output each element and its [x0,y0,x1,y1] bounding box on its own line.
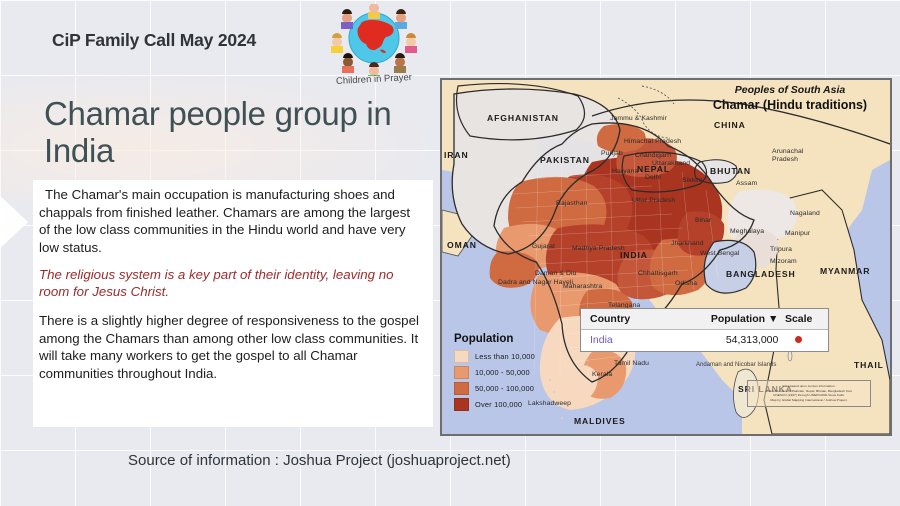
legend-label-tier-2: 10,000 - 50,000 [475,368,530,377]
legend-swatch-tier-3 [454,382,469,395]
legend-label-tier-3: 50,000 - 100,000 [475,384,534,393]
legend-swatch-tier-4 [454,398,469,411]
children-in-prayer-logo: Children in Prayer [322,4,426,96]
page-title: Chamar people group in India [44,96,434,170]
left-arrow-icon [0,192,28,252]
population-table: Country Population ▼ Scale India 54,313,… [580,308,829,352]
table-header-row: Country Population ▼ Scale [581,309,828,330]
legend-item: 10,000 - 50,000 [454,366,535,379]
logo-globe-icon [322,4,426,76]
map-attribution: Data based upon census information. Dist… [747,380,871,407]
paragraph-occupation: The Chamar's main occupation is manufact… [39,186,423,257]
cell-country-india[interactable]: India [590,334,686,346]
body-text-panel: The Chamar's main occupation is manufact… [33,180,433,427]
map-title: Peoples of South Asia Chamar (Hindu trad… [692,84,888,113]
map-title-subtitle: Peoples of South Asia [692,84,888,97]
legend-item: Over 100,000 [454,398,535,411]
legend-label-tier-1: Less than 10,000 [475,352,535,361]
paragraph-responsiveness: There is a slightly higher degree of res… [39,312,423,383]
legend-swatch-tier-1 [454,350,469,363]
slide: CiP Family Call May 2024 Children in Pra… [0,0,900,506]
column-header-population[interactable]: Population ▼ [686,313,778,325]
paragraph-highlight: The religious system is a key part of th… [39,266,423,301]
south-asia-map: Peoples of South Asia Chamar (Hindu trad… [440,78,892,436]
legend-item: Less than 10,000 [454,350,535,363]
legend-title: Population [454,333,535,345]
cell-scale [778,334,819,346]
legend-label-tier-4: Over 100,000 [475,400,522,409]
legend-swatch-tier-2 [454,366,469,379]
column-header-scale[interactable]: Scale [778,313,819,325]
attribution-line-4: Map by Global Mapping International / Jo… [750,398,868,403]
source-footer: Source of information : Joshua Project (… [128,452,511,469]
table-row: India 54,313,000 [581,330,828,351]
map-legend: Population Less than 10,000 10,000 - 50,… [454,333,535,414]
map-title-main: Chamar (Hindu traditions) [692,97,888,113]
cell-population: 54,313,000 [686,334,778,346]
column-header-country[interactable]: Country [590,313,686,325]
legend-item: 50,000 - 100,000 [454,382,535,395]
header-title: CiP Family Call May 2024 [52,30,256,51]
scale-dot-icon [795,336,802,343]
